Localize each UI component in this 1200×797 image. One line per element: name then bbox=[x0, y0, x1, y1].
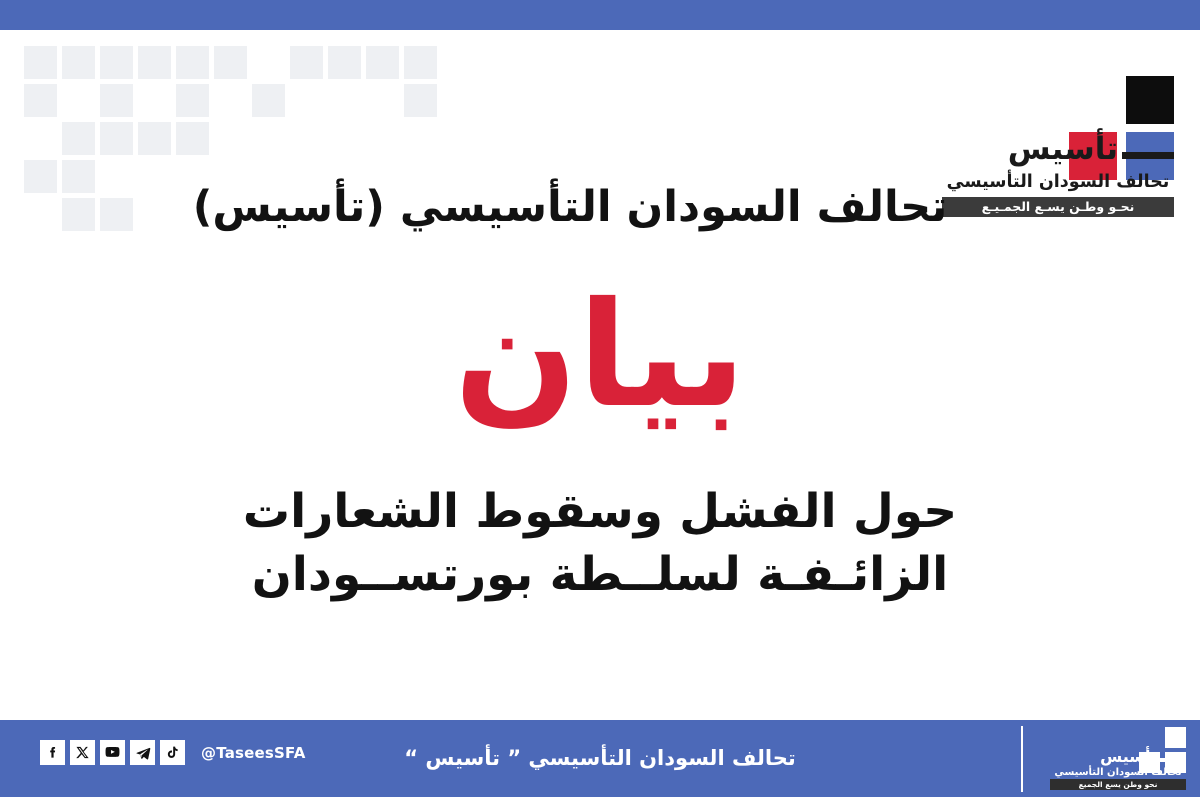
decorative-square bbox=[404, 46, 437, 79]
logo-wordmark-row: تأسيس bbox=[924, 134, 1174, 165]
decorative-square bbox=[290, 46, 323, 79]
top-blue-bar bbox=[0, 0, 1200, 30]
decorative-square bbox=[100, 84, 133, 117]
logo-block-black-icon bbox=[1126, 76, 1174, 124]
decorative-square bbox=[62, 122, 95, 155]
footer-divider bbox=[1021, 726, 1023, 792]
decorative-square bbox=[176, 84, 209, 117]
footer-logo-kashida-dash-icon bbox=[1160, 758, 1186, 762]
decorative-square bbox=[176, 46, 209, 79]
footer-logo-subtitle: تحالف السودان التأسيسي bbox=[1050, 767, 1186, 778]
decorative-square bbox=[214, 46, 247, 79]
decorative-square bbox=[100, 122, 133, 155]
footer-bar: @TaseesSFA تحالف السودان التأسيسي ” تأسي… bbox=[0, 720, 1200, 797]
subject-line-1: حول الفشل وسقوط الشعارات bbox=[90, 480, 1110, 543]
decorative-square bbox=[100, 46, 133, 79]
decorative-square bbox=[138, 46, 171, 79]
decorative-square bbox=[138, 122, 171, 155]
decorative-square bbox=[24, 84, 57, 117]
footer-logo-wordmark-row: تأسيس bbox=[1036, 749, 1186, 765]
footer-logo: تأسيس تحالف السودان التأسيسي نحو وطن يسع… bbox=[1036, 727, 1186, 791]
statement-subject: حول الفشل وسقوط الشعارات الزائـفـة لسلــ… bbox=[90, 480, 1110, 607]
subject-line-2: الزائـفـة لسلــطة بورتســودان bbox=[90, 543, 1110, 606]
decorative-square bbox=[252, 84, 285, 117]
decorative-square bbox=[176, 122, 209, 155]
logo-wordmark: تأسيس bbox=[1008, 134, 1118, 165]
footer-org-name: تحالف السودان التأسيسي ” تأسيس “ bbox=[0, 746, 1200, 770]
footer-logo-tagline: نحو وطن يسع الجميع bbox=[1050, 779, 1186, 790]
decorative-square bbox=[24, 46, 57, 79]
decorative-square bbox=[62, 46, 95, 79]
statement-poster: تأسيس تحالف السودان التأسيسي نحـو وطـن ي… bbox=[0, 0, 1200, 797]
organization-title: تحالف السودان التأسيسي (تأسيس) bbox=[0, 182, 1200, 232]
footer-logo-wordmark: تأسيس bbox=[1100, 749, 1157, 765]
footer-logo-block-1-icon bbox=[1165, 727, 1186, 748]
headline-bayan: بيان bbox=[0, 283, 1200, 428]
logo-kashida-dash-icon bbox=[1122, 152, 1174, 159]
decorative-square bbox=[404, 84, 437, 117]
decorative-square bbox=[328, 46, 361, 79]
decorative-square bbox=[366, 46, 399, 79]
